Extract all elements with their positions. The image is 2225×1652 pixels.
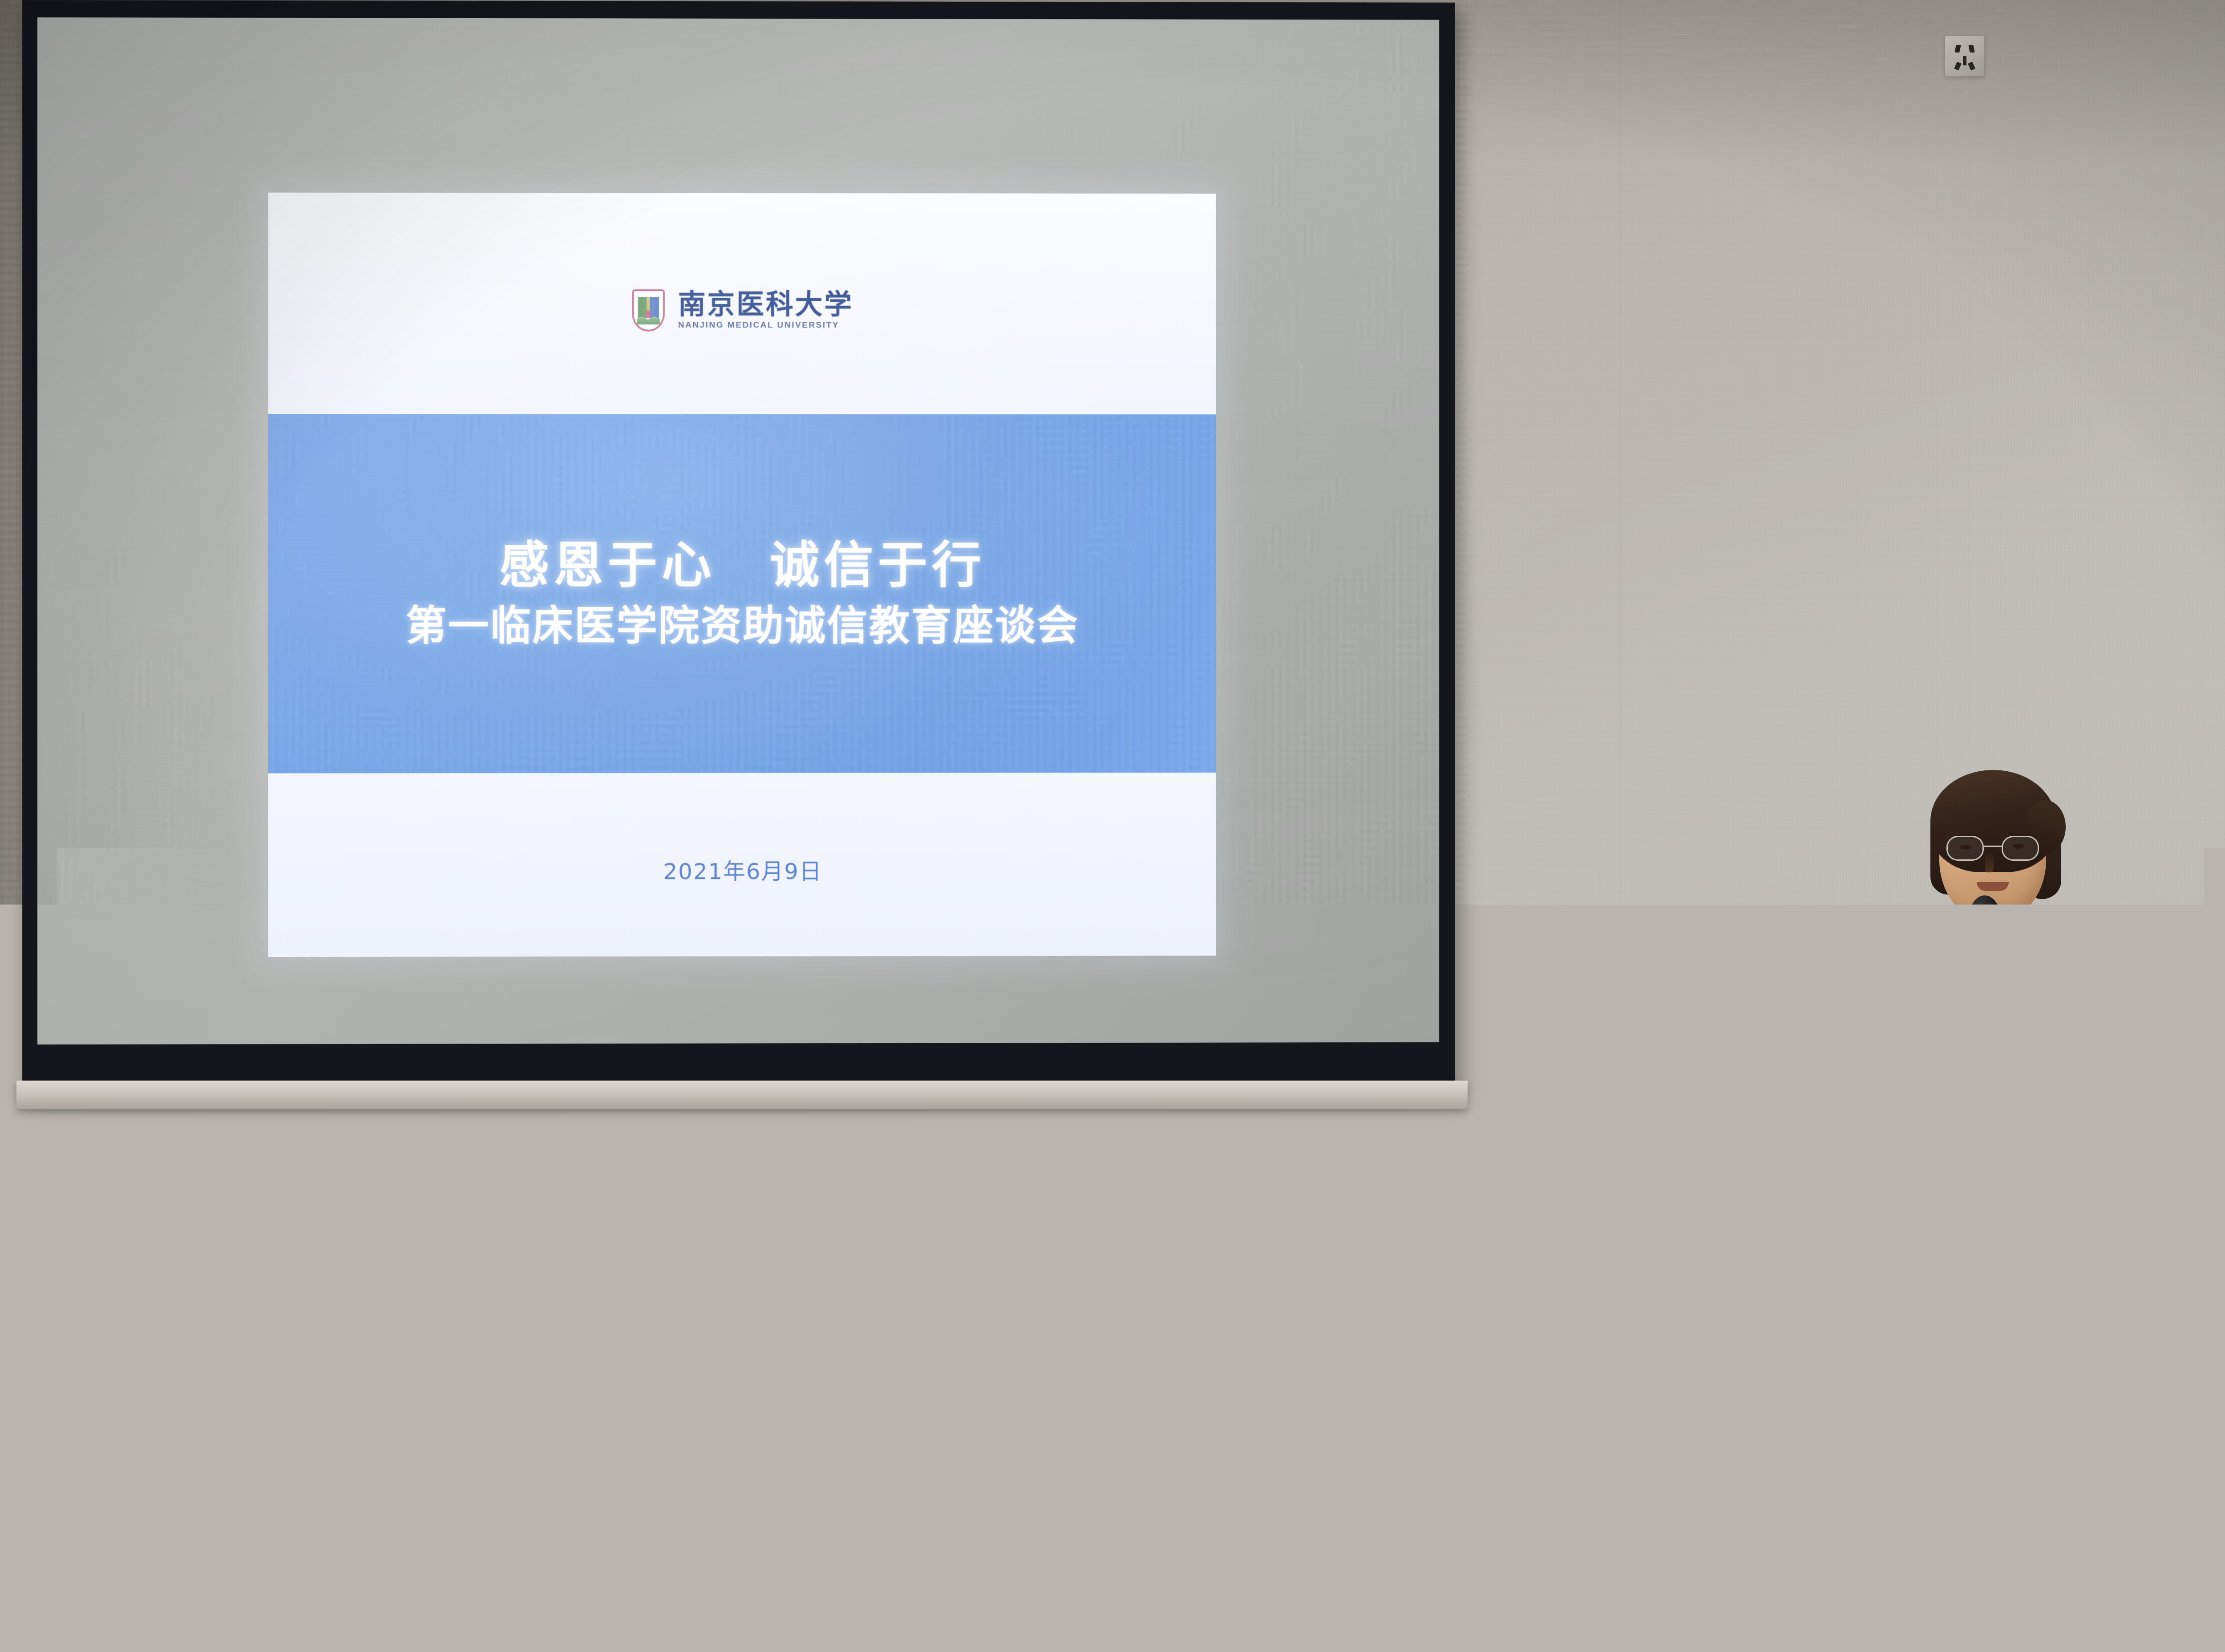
projection-screen: 南京医科大学 NANJING MEDICAL UNIVERSITY 感恩于心 诚…: [22, 0, 1462, 1095]
audience-member-center: [1415, 1372, 1727, 1652]
screen-frame: 南京医科大学 NANJING MEDICAL UNIVERSITY 感恩于心 诚…: [22, 0, 1455, 1095]
projected-slide: 南京医科大学 NANJING MEDICAL UNIVERSITY 感恩于心 诚…: [268, 192, 1216, 957]
slide-title: 感恩于心 诚信于行: [499, 541, 986, 591]
speaker-sleeve-left: [1823, 979, 1889, 1126]
outlet-pin: [1968, 45, 1975, 53]
speaker-finger: [1966, 958, 2016, 970]
university-name-cn: 南京医科大学: [678, 291, 854, 319]
speaker-finger: [1970, 988, 2013, 1000]
slide-title-band: 感恩于心 诚信于行 第一临床医学院资助诚信教育座谈会: [268, 414, 1216, 773]
slide-footer: 2021年6月9日: [268, 773, 1216, 957]
podium-crest-name-cn: 南京: [1892, 1366, 1951, 1377]
audience-member-left: [307, 1314, 672, 1652]
speaker-nose: [1985, 852, 1994, 873]
sign-sheen: [1773, 1108, 2225, 1279]
podium-university-crest-icon: 南京 NANJING M: [1888, 1357, 1955, 1445]
slide-header: 南京医科大学 NANJING MEDICAL UNIVERSITY: [268, 192, 1216, 414]
speaker-eye: [1960, 845, 1971, 850]
audience-hair: [307, 1314, 672, 1652]
microphone-head: [1970, 895, 2000, 936]
audience-ear: [643, 1505, 664, 1548]
speaker-figure: [1838, 757, 2145, 1126]
podium-cable-left: [1768, 1237, 1799, 1629]
slide-date: 2021年6月9日: [663, 854, 822, 886]
speaker-sleeve-right: [2091, 970, 2163, 1126]
outlet-pin: [1955, 45, 1962, 53]
speaker-mouth: [1977, 882, 2009, 891]
microphone-base: [1975, 1018, 1994, 1036]
lecture-hall-scene: 南京医科大学 NANJING MEDICAL UNIVERSITY 感恩于心 诚…: [0, 0, 2225, 1652]
speaker-finger: [1968, 943, 2014, 955]
outlet-pin: [1968, 62, 1975, 71]
podium-crest-name-en: NANJING M: [1892, 1430, 1951, 1437]
university-branding: 南京医科大学 NANJING MEDICAL UNIVERSITY: [632, 290, 854, 332]
screen-weight-bar: [16, 1081, 1468, 1109]
speaker-finger: [1967, 973, 2015, 985]
university-crest-icon: [632, 290, 665, 332]
university-name-en: NANJING MEDICAL UNIVERSITY: [678, 320, 854, 330]
outlet-pin: [1954, 62, 1962, 71]
audience-member-right: [1976, 1300, 2225, 1652]
speaker-eye: [2012, 844, 2024, 849]
podium-red-sign: 党史大讲堂 1921 奋斗百年路 · 启航新征程 2021: [1773, 1108, 2225, 1279]
audience-hair: [1415, 1372, 1727, 1652]
wall-outlet-upper-right: [1945, 36, 1985, 77]
slide-subtitle: 第一临床医学院资助诚信教育座谈会: [406, 606, 1079, 647]
screen-surface: 南京医科大学 NANJING MEDICAL UNIVERSITY 感恩于心 诚…: [37, 17, 1440, 1044]
